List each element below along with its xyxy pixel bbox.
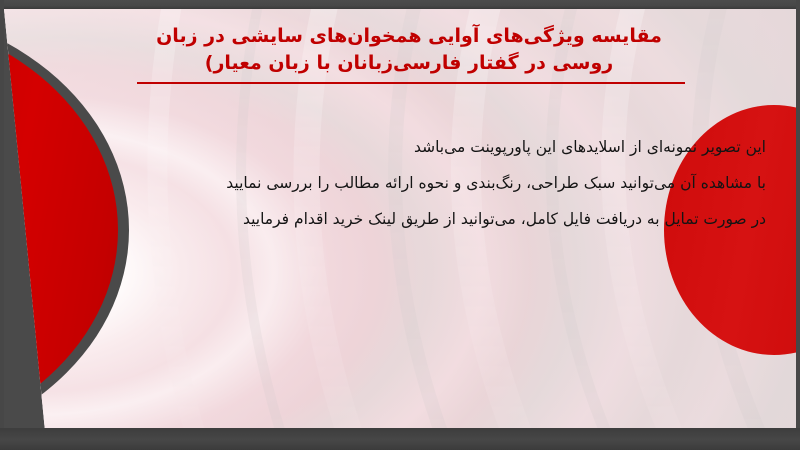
body-line-1: این تصویر نمونه‌ای از اسلایدهای این پاور… [26,129,766,165]
title-underline [137,82,685,84]
presentation-slide: مقایسه ویژگی‌های آوایی همخوان‌های سایشی … [0,0,800,450]
slide-title: مقایسه ویژگی‌های آوایی همخوان‌های سایشی … [114,23,704,77]
slide-left-edge [0,0,4,450]
slide-right-edge [796,0,800,450]
slide-top-band [0,0,800,9]
slide-canvas: مقایسه ویژگی‌های آوایی همخوان‌های سایشی … [4,9,796,433]
slide-body-text: این تصویر نمونه‌ای از اسلایدهای این پاور… [26,129,766,237]
slide-title-line-1: مقایسه ویژگی‌های آوایی همخوان‌های سایشی … [114,23,704,50]
slide-title-line-2: روسی در گفتار فارسی‌زبانان با زبان معیار… [114,50,704,77]
body-line-3: در صورت تمایل به دریافت فایل کامل، می‌تو… [26,201,766,237]
slide-bottom-band [0,428,800,450]
body-line-2: با مشاهده آن می‌توانید سبک طراحی، رنگ‌بن… [26,165,766,201]
